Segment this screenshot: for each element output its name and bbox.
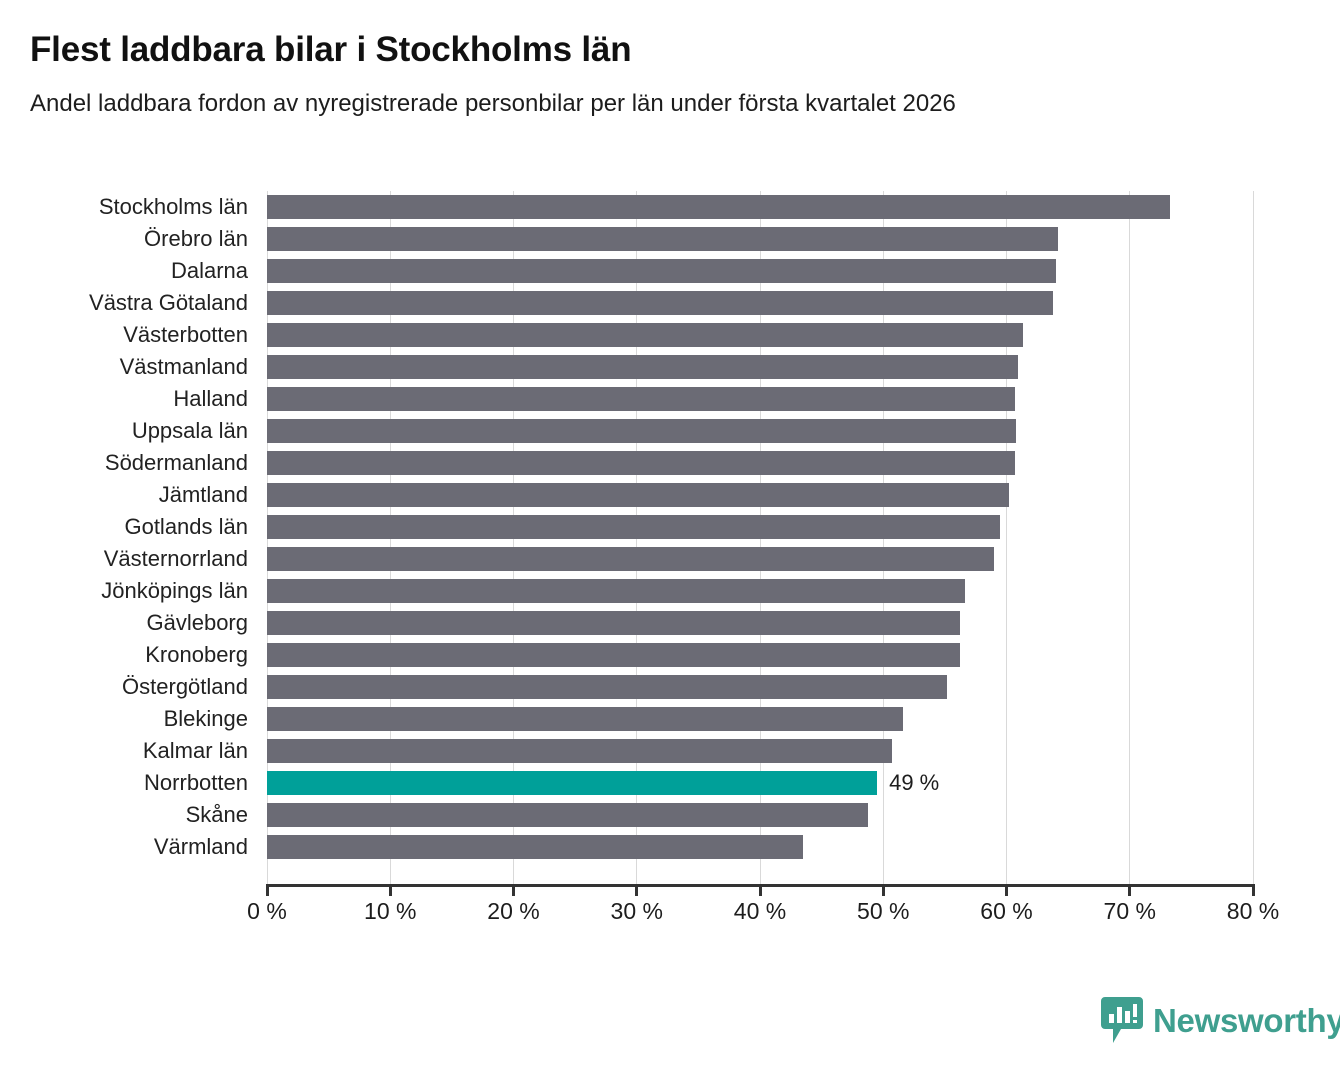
y-axis-category-label: Västernorrland bbox=[104, 546, 248, 572]
bar-row: Östergötland bbox=[0, 671, 1340, 703]
x-axis-tick-label: 70 % bbox=[1104, 898, 1156, 925]
y-axis-category-label: Jönköpings län bbox=[101, 578, 248, 604]
bar-row: Stockholms län bbox=[0, 191, 1340, 223]
bar-row: Halland bbox=[0, 383, 1340, 415]
y-axis-category-label: Halland bbox=[173, 386, 248, 412]
bar bbox=[267, 483, 1009, 507]
y-axis-category-label: Skåne bbox=[186, 802, 248, 828]
bar-row: Jönköpings län bbox=[0, 575, 1340, 607]
y-axis-category-label: Kalmar län bbox=[143, 738, 248, 764]
x-axis-tick-label: 30 % bbox=[611, 898, 663, 925]
bar-chart-speech-bubble-icon bbox=[1101, 997, 1143, 1043]
bar-value-label: 49 % bbox=[889, 770, 939, 796]
bar bbox=[267, 451, 1015, 475]
bar bbox=[267, 611, 960, 635]
bar-row: Kronoberg bbox=[0, 639, 1340, 671]
y-axis-category-label: Stockholms län bbox=[99, 194, 248, 220]
bar-row: Örebro län bbox=[0, 223, 1340, 255]
bar bbox=[267, 835, 803, 859]
y-axis-category-label: Uppsala län bbox=[132, 418, 248, 444]
x-axis-tick-label: 40 % bbox=[734, 898, 786, 925]
bar-row: Västra Götaland bbox=[0, 287, 1340, 319]
chart-page: Flest laddbara bilar i Stockholms län An… bbox=[0, 0, 1340, 1073]
bar-row: Västerbotten bbox=[0, 319, 1340, 351]
bar-chart-plot: 0 %10 %20 %30 %40 %50 %60 %70 %80 %Stock… bbox=[0, 0, 1340, 1073]
bar bbox=[267, 355, 1018, 379]
bar bbox=[267, 419, 1016, 443]
bar-row: Uppsala län bbox=[0, 415, 1340, 447]
y-axis-category-label: Dalarna bbox=[171, 258, 248, 284]
bar-row: Norrbotten49 % bbox=[0, 767, 1340, 799]
bar-highlighted bbox=[267, 771, 877, 795]
bar-row: Dalarna bbox=[0, 255, 1340, 287]
x-axis-tick-label: 20 % bbox=[487, 898, 539, 925]
bar-row: Värmland bbox=[0, 831, 1340, 863]
bar bbox=[267, 323, 1023, 347]
bar bbox=[267, 227, 1058, 251]
bar-row: Blekinge bbox=[0, 703, 1340, 735]
brand-name: Newsworthy bbox=[1153, 1004, 1340, 1037]
x-axis-tick-label: 0 % bbox=[247, 898, 287, 925]
y-axis-category-label: Örebro län bbox=[144, 226, 248, 252]
y-axis-category-label: Norrbotten bbox=[144, 770, 248, 796]
bar-row: Gävleborg bbox=[0, 607, 1340, 639]
x-axis-line bbox=[267, 884, 1254, 887]
y-axis-category-label: Värmland bbox=[154, 834, 248, 860]
bar-row: Jämtland bbox=[0, 479, 1340, 511]
bar bbox=[267, 291, 1053, 315]
bar bbox=[267, 259, 1056, 283]
bar bbox=[267, 547, 994, 571]
bar-row: Västernorrland bbox=[0, 543, 1340, 575]
bar bbox=[267, 739, 892, 763]
bar-row: Skåne bbox=[0, 799, 1340, 831]
bar bbox=[267, 643, 960, 667]
bar bbox=[267, 803, 868, 827]
bar-row: Västmanland bbox=[0, 351, 1340, 383]
bar-row: Kalmar län bbox=[0, 735, 1340, 767]
bar-row: Gotlands län bbox=[0, 511, 1340, 543]
y-axis-category-label: Västmanland bbox=[120, 354, 248, 380]
y-axis-category-label: Södermanland bbox=[105, 450, 248, 476]
bar bbox=[267, 195, 1170, 219]
y-axis-category-label: Västra Götaland bbox=[89, 290, 248, 316]
y-axis-category-label: Gotlands län bbox=[124, 514, 248, 540]
x-axis-tick-label: 80 % bbox=[1227, 898, 1279, 925]
y-axis-category-label: Västerbotten bbox=[123, 322, 248, 348]
y-axis-category-label: Gävleborg bbox=[146, 610, 248, 636]
bar bbox=[267, 707, 903, 731]
bar bbox=[267, 579, 965, 603]
bar bbox=[267, 675, 947, 699]
bar-row: Södermanland bbox=[0, 447, 1340, 479]
y-axis-category-label: Blekinge bbox=[164, 706, 248, 732]
y-axis-category-label: Östergötland bbox=[122, 674, 248, 700]
x-axis-tick-label: 50 % bbox=[857, 898, 909, 925]
y-axis-category-label: Kronoberg bbox=[145, 642, 248, 668]
bar bbox=[267, 515, 1000, 539]
y-axis-category-label: Jämtland bbox=[159, 482, 248, 508]
bar bbox=[267, 387, 1015, 411]
x-axis-tick-label: 60 % bbox=[980, 898, 1032, 925]
x-axis-tick-label: 10 % bbox=[364, 898, 416, 925]
newsworthy-logo: Newsworthy bbox=[1101, 997, 1340, 1043]
